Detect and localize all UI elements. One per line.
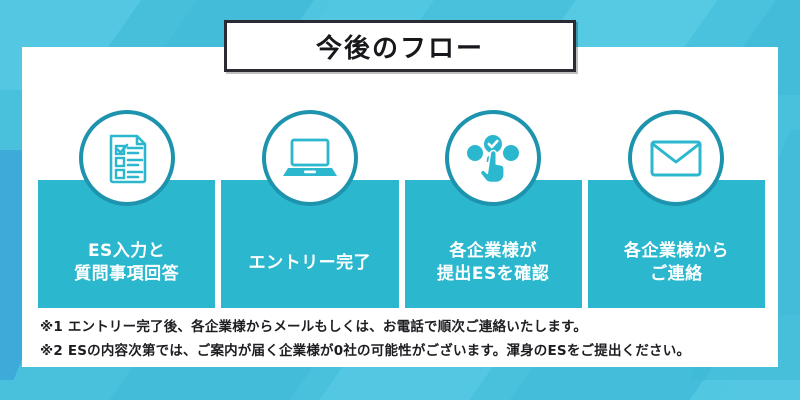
footnote-2: ※2 ESの内容次第では、ご案内が届く企業様が0社の可能性がございます。渾身のE… <box>40 340 760 364</box>
flow-step-label: ES入力と 質問事項回答 <box>74 240 179 286</box>
flow-step-label: 各企業様から ご連絡 <box>624 240 729 286</box>
checklist-document-icon <box>79 110 175 206</box>
page-title: 今後のフロー <box>316 28 484 65</box>
hand-pointing-check-icon <box>445 110 541 206</box>
flow-step-card-3[interactable]: 各企業様が 提出ESを確認 <box>405 180 582 308</box>
flow-step-card-1[interactable]: ES入力と 質問事項回答 <box>38 180 215 308</box>
footnotes: ※1 エントリー完了後、各企業様からメールもしくは、お電話で順次ご連絡いたします… <box>40 316 760 363</box>
page-title-box: 今後のフロー <box>224 20 576 72</box>
flow-step-label: エントリー完了 <box>249 252 372 275</box>
flow-steps-row: ES入力と 質問事項回答 エントリー完了 <box>38 180 765 308</box>
laptop-icon <box>262 110 358 206</box>
envelope-icon <box>628 110 724 206</box>
flow-step-card-2[interactable]: エントリー完了 <box>221 180 398 308</box>
flow-step-card-4[interactable]: 各企業様から ご連絡 <box>588 180 765 308</box>
flow-step-label: 各企業様が 提出ESを確認 <box>437 240 549 286</box>
footnote-1: ※1 エントリー完了後、各企業様からメールもしくは、お電話で順次ご連絡いたします… <box>40 316 760 340</box>
slide-canvas: 今後のフロー ES入力と 質 <box>0 0 800 400</box>
